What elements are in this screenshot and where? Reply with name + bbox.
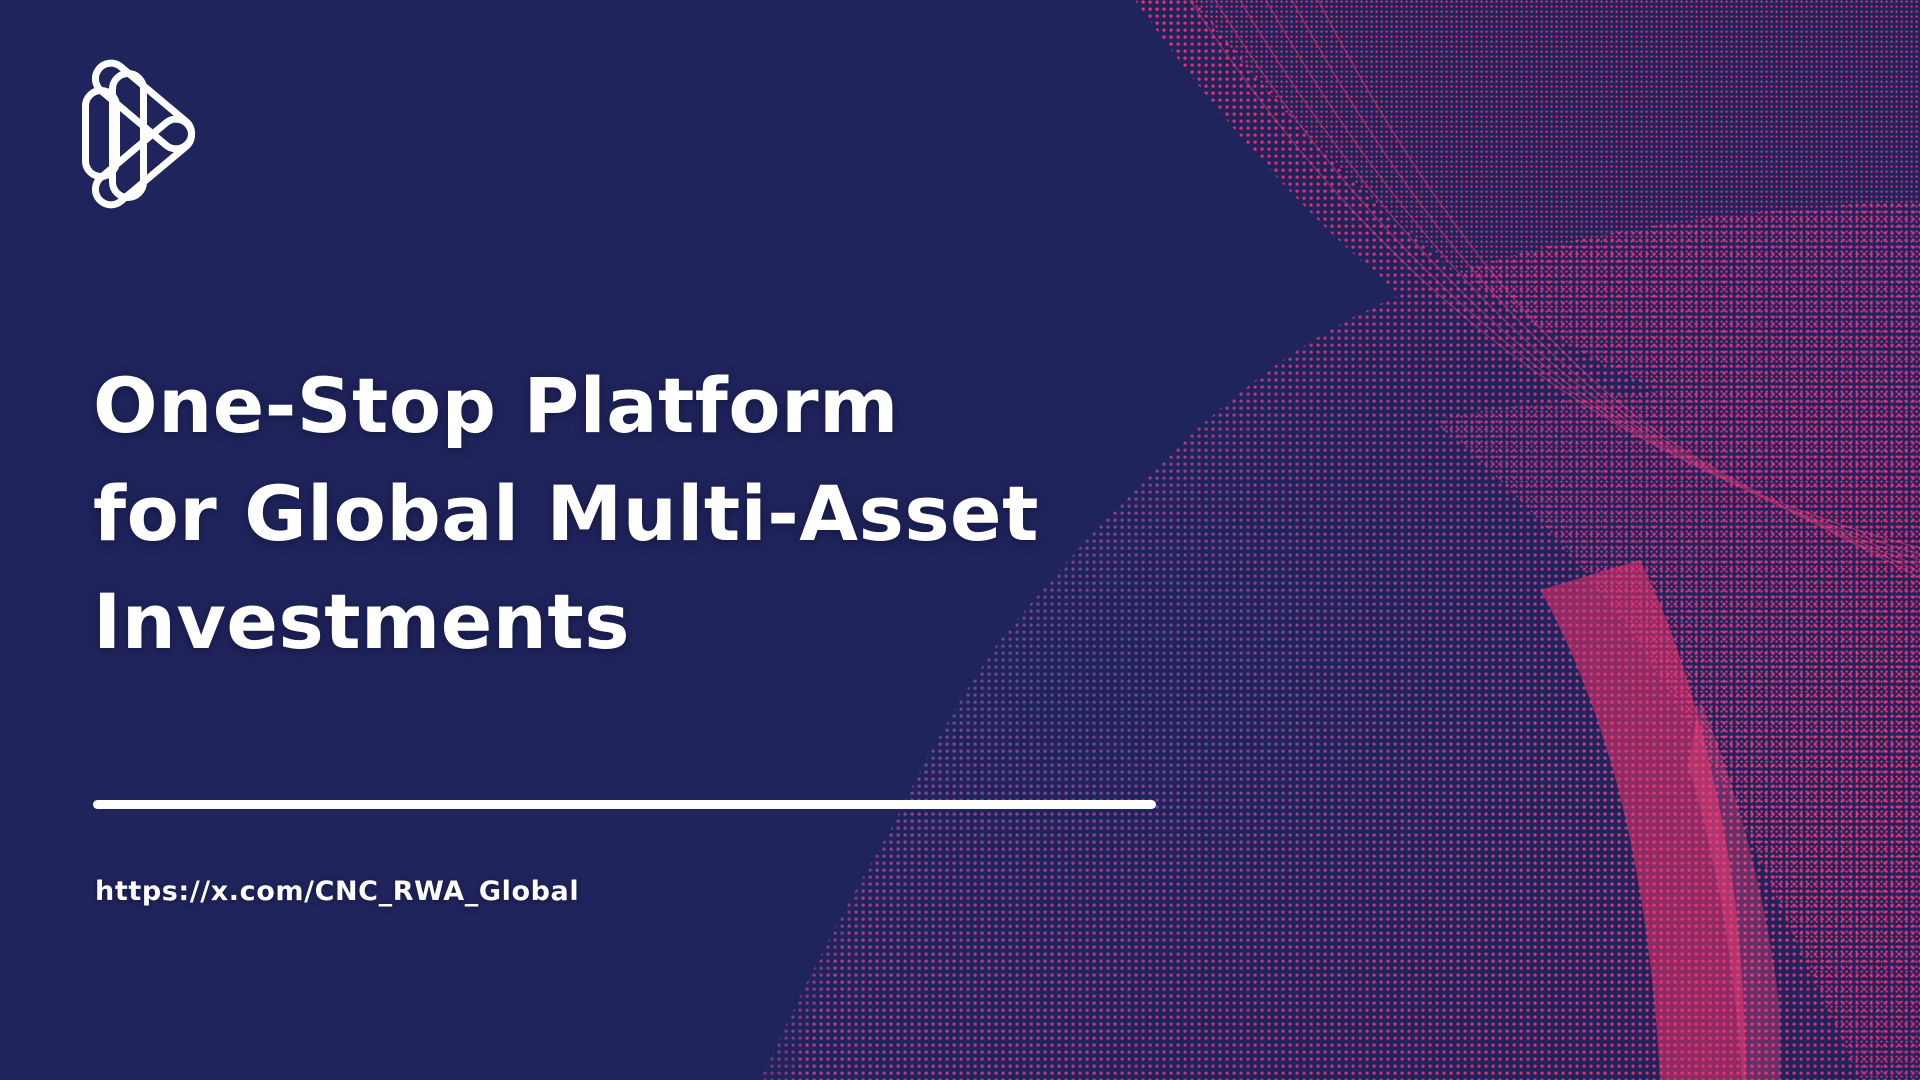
horizontal-divider: [93, 800, 1156, 809]
headline-line-1: One-Stop Platform: [93, 352, 1213, 460]
cnc-monogram-logo[interactable]: [82, 52, 210, 212]
promo-slide: One-Stop Platform for Global Multi-Asset…: [0, 0, 1920, 1080]
page-title: One-Stop Platform for Global Multi-Asset…: [93, 352, 1213, 676]
headline-line-3: Investments: [93, 568, 1213, 676]
site-url-link[interactable]: https://x.com/CNC_RWA_Global: [95, 876, 579, 907]
headline-line-2: for Global Multi-Asset: [93, 460, 1213, 568]
